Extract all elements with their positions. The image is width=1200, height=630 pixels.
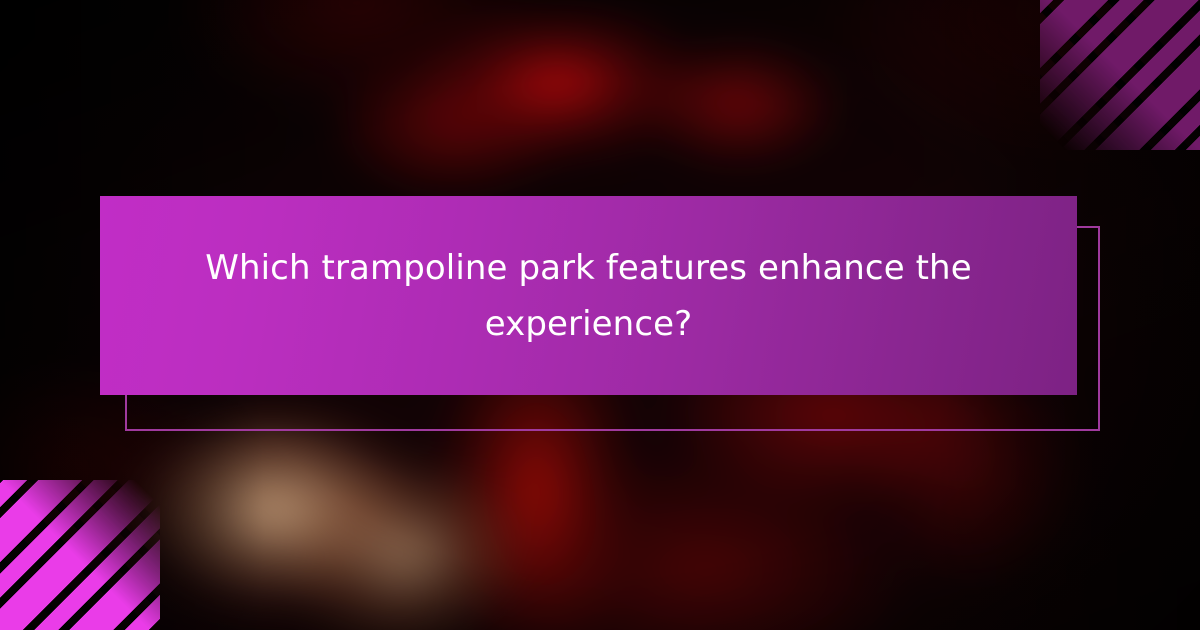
question-card: Which trampoline park features enhance t… — [100, 196, 1077, 395]
corner-ornament-bottom-left — [0, 480, 160, 630]
diagonal-dash-pattern-icon — [0, 480, 160, 630]
diagonal-dash-pattern-icon — [1040, 0, 1200, 150]
question-card-banner: Which trampoline park features enhance t… — [0, 0, 1200, 630]
question-text: Which trampoline park features enhance t… — [200, 240, 977, 352]
corner-ornament-top-right — [1040, 0, 1200, 150]
